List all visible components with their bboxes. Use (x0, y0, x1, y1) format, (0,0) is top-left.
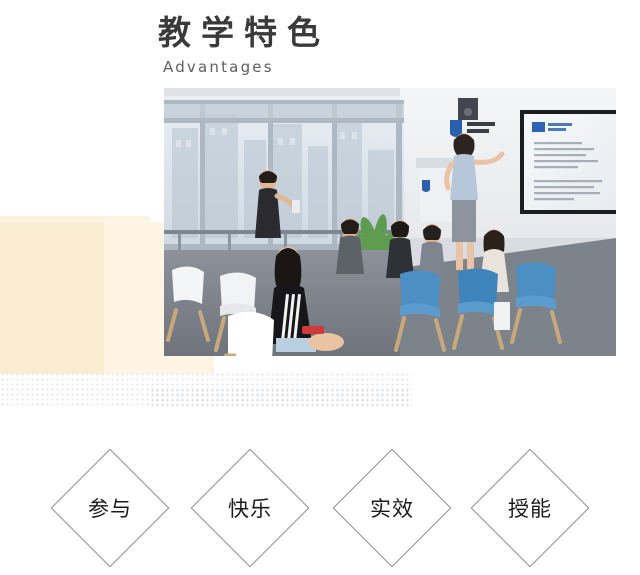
classroom-photo (164, 88, 616, 356)
page-header: 教学特色 Advantages (158, 14, 578, 77)
feature-label: 参与 (50, 448, 170, 568)
feature-diamond-3[interactable]: 实效 (332, 448, 452, 568)
feature-label: 实效 (332, 448, 452, 568)
dot-pattern-decoration-dense (150, 388, 412, 406)
cream-stripe-top (0, 216, 150, 221)
classroom-photo-illustration (164, 88, 616, 356)
feature-diamond-1[interactable]: 参与 (50, 448, 170, 568)
page-title: 教学特色 (158, 14, 578, 54)
feature-label: 快乐 (190, 448, 310, 568)
feature-diamond-2[interactable]: 快乐 (190, 448, 310, 568)
feature-diamond-4[interactable]: 授能 (470, 448, 590, 568)
page-root: 教学特色 Advantages (0, 0, 640, 575)
feature-diamond-row: 参与 快乐 实效 授能 (0, 448, 640, 575)
page-subtitle: Advantages (163, 58, 578, 77)
feature-label: 授能 (470, 448, 590, 568)
